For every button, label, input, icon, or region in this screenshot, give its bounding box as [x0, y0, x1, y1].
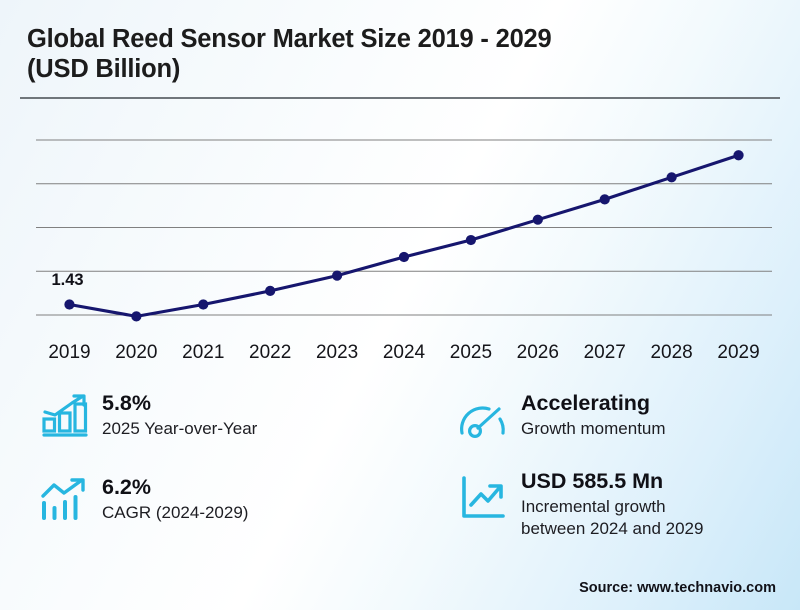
x-axis-tick: 2029 — [705, 341, 772, 365]
x-axis-tick: 2025 — [437, 341, 504, 365]
kpi-card-yoy: 5.8% 2025 Year-over-Year — [36, 388, 257, 444]
chart-x-axis: 2019202020212022202320242025202620272028… — [0, 341, 800, 371]
line-chart: 1.43 — [0, 110, 800, 342]
source-attribution: Source: www.technavio.com — [579, 580, 776, 596]
data-point-marker — [332, 271, 342, 281]
data-point-marker — [600, 194, 610, 204]
data-point-marker — [533, 215, 543, 225]
title-divider — [20, 97, 780, 99]
x-axis-tick: 2020 — [103, 341, 170, 365]
kpi-card-momentum: Accelerating Growth momentum — [455, 388, 666, 446]
x-axis-tick: 2022 — [237, 341, 304, 365]
kpi-text-yoy: 5.8% 2025 Year-over-Year — [102, 388, 257, 440]
kpi-value-incremental: USD 585.5 Mn — [521, 468, 703, 494]
data-point-marker — [131, 311, 141, 321]
title-line-1: Global Reed Sensor Market Size 2019 - 20… — [27, 24, 767, 54]
kpi-value-momentum: Accelerating — [521, 390, 666, 416]
chart-canvas — [0, 110, 800, 342]
kpi-caption-incremental-2: between 2024 and 2029 — [521, 518, 703, 540]
data-point-marker — [667, 172, 677, 182]
kpi-card-incremental: USD 585.5 Mn Incremental growth between … — [455, 466, 703, 540]
page-title: Global Reed Sensor Market Size 2019 - 20… — [27, 24, 767, 84]
kpi-card-cagr: 6.2% CAGR (2024-2029) — [36, 472, 248, 528]
x-axis-tick: 2021 — [170, 341, 237, 365]
chart-series-line — [69, 155, 738, 316]
data-point-marker — [64, 299, 74, 309]
x-axis-tick: 2028 — [638, 341, 705, 365]
data-point-marker — [198, 299, 208, 309]
data-point-marker — [399, 252, 409, 262]
data-point-marker — [265, 286, 275, 296]
data-point-marker — [466, 235, 476, 245]
kpi-text-cagr: 6.2% CAGR (2024-2029) — [102, 472, 248, 524]
speedometer-icon — [455, 390, 511, 446]
x-axis-tick: 2027 — [571, 341, 638, 365]
chart-gridlines — [36, 140, 772, 315]
bar-chart-growth-icon — [36, 388, 92, 444]
title-line-2: (USD Billion) — [27, 54, 767, 84]
kpi-caption-cagr: CAGR (2024-2029) — [102, 502, 248, 524]
kpi-text-momentum: Accelerating Growth momentum — [521, 388, 666, 440]
kpi-caption-momentum: Growth momentum — [521, 418, 666, 440]
chart-data-points — [64, 150, 743, 321]
x-axis-tick: 2026 — [504, 341, 571, 365]
kpi-caption-yoy: 2025 Year-over-Year — [102, 418, 257, 440]
kpi-value-yoy: 5.8% — [102, 390, 257, 416]
data-point-marker — [733, 150, 743, 160]
kpi-value-cagr: 6.2% — [102, 474, 248, 500]
x-axis-tick: 2019 — [36, 341, 103, 365]
infographic-root: Global Reed Sensor Market Size 2019 - 20… — [0, 0, 800, 610]
data-point-label-2019: 1.43 — [51, 271, 83, 290]
x-axis-tick: 2023 — [304, 341, 371, 365]
kpi-grid: 5.8% 2025 Year-over-Year Accelerating Gr… — [0, 382, 800, 567]
kpi-text-incremental: USD 585.5 Mn Incremental growth between … — [521, 466, 703, 540]
x-axis-tick: 2024 — [371, 341, 438, 365]
kpi-caption-incremental: Incremental growth — [521, 496, 703, 518]
line-chart-arrow-icon — [455, 470, 511, 526]
bar-trend-up-icon — [36, 472, 92, 528]
